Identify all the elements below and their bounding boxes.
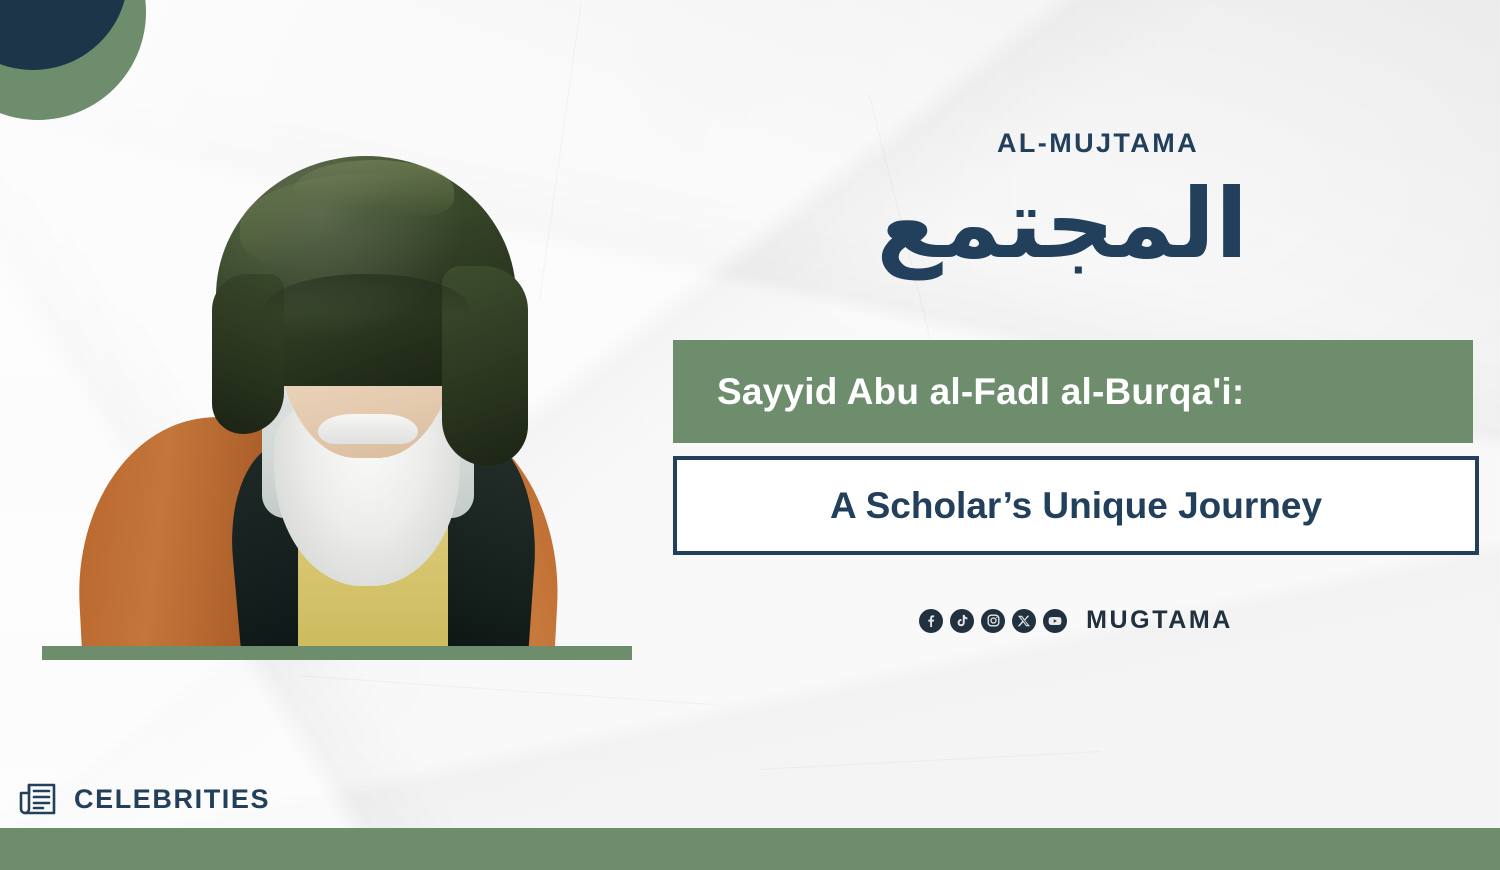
instagram-icon[interactable] bbox=[981, 609, 1005, 633]
headline-secondary-text: A Scholar’s Unique Journey bbox=[830, 485, 1322, 527]
newspaper-icon bbox=[18, 782, 58, 816]
tiktok-icon[interactable] bbox=[950, 609, 974, 633]
youtube-icon[interactable] bbox=[1043, 609, 1067, 633]
brand-arabic-name: المجتمع bbox=[948, 161, 1248, 288]
poster-canvas: AL-MUJTAMA المجتمع Sayyid Abu al-Fadl al… bbox=[0, 0, 1500, 870]
portrait-turban-fold-crown bbox=[294, 160, 454, 216]
facebook-icon[interactable] bbox=[919, 609, 943, 633]
bottom-accent-bar bbox=[0, 828, 1500, 870]
portrait-image bbox=[36, 78, 646, 648]
category-label: CELEBRITIES bbox=[74, 784, 270, 815]
headline-primary-text: Sayyid Abu al-Fadl al-Burqa'i: bbox=[673, 371, 1244, 413]
x-twitter-icon[interactable] bbox=[1012, 609, 1036, 633]
category-badge[interactable]: CELEBRITIES bbox=[18, 782, 270, 816]
social-row: MUGTAMA bbox=[673, 606, 1479, 635]
brand-logo: AL-MUJTAMA المجتمع bbox=[948, 128, 1248, 288]
portrait-mustache bbox=[318, 414, 418, 444]
portrait-underline-bar bbox=[42, 646, 632, 660]
social-handle-text: MUGTAMA bbox=[1086, 606, 1233, 635]
headline-primary-bar: Sayyid Abu al-Fadl al-Burqa'i: bbox=[673, 340, 1473, 443]
paper-crease bbox=[300, 675, 719, 705]
headline-secondary-box: A Scholar’s Unique Journey bbox=[673, 456, 1479, 555]
paper-crease bbox=[760, 751, 1100, 770]
portrait-bottom-fade bbox=[36, 622, 646, 648]
brand-latin-name: AL-MUJTAMA bbox=[948, 128, 1248, 159]
